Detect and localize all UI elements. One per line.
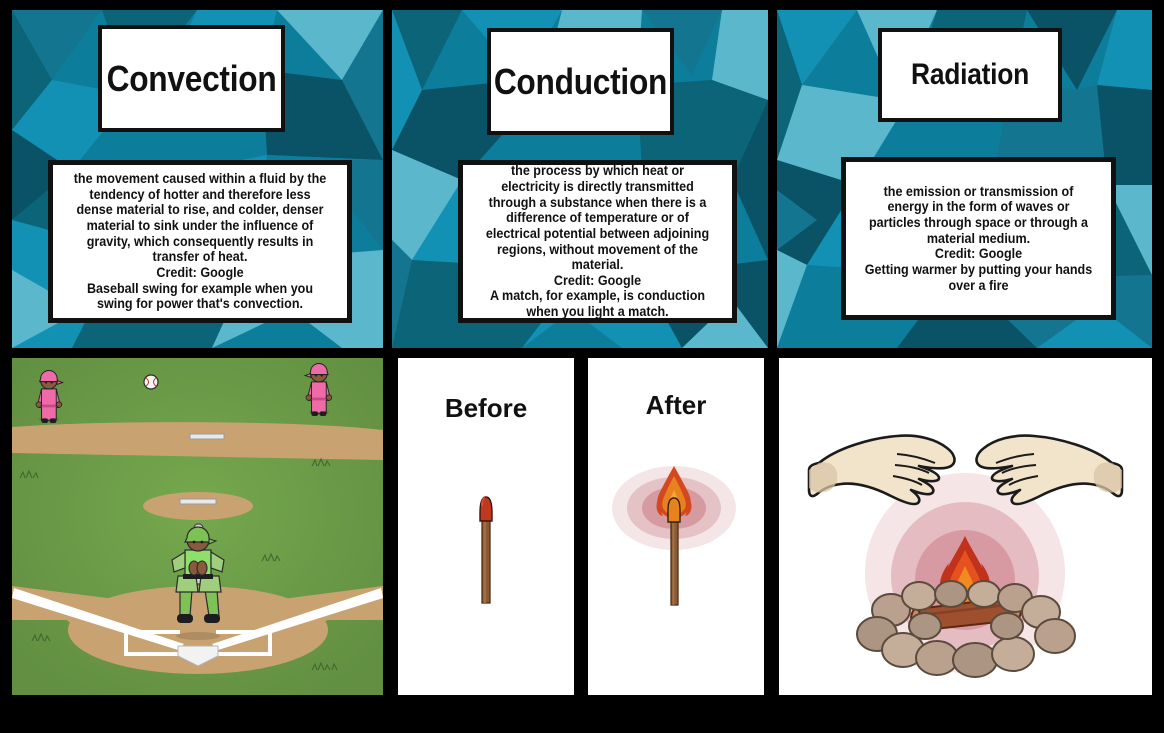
panel-title-convection: Convection (107, 58, 277, 100)
right-hand (977, 436, 1122, 504)
panel-description-conduction: the process by which heat or electricity… (482, 163, 714, 320)
panel-title-radiation: Radiation (911, 58, 1029, 92)
panel-conduction[interactable]: Conduction the process by which heat or … (392, 10, 768, 348)
baseball-field-illustration (12, 358, 383, 695)
panel-match-after[interactable]: After (588, 358, 764, 695)
panel-title-box-conduction: Conduction (487, 28, 674, 135)
baseball (144, 375, 158, 389)
unlit-match-illustration (398, 358, 574, 695)
panel-hands-over-campfire[interactable] (779, 358, 1152, 695)
panel-description-box-conduction: the process by which heat or electricity… (458, 160, 737, 323)
campfire-illustration (779, 358, 1152, 695)
panel-title-box-convection: Convection (98, 25, 285, 132)
panel-match-before[interactable]: Before (398, 358, 574, 695)
panel-title-box-radiation: Radiation (878, 28, 1062, 122)
panel-description-radiation: the emission or transmission of energy i… (865, 184, 1093, 294)
left-hand (809, 436, 954, 504)
panel-description-convection: the movement caused within a fluid by th… (73, 171, 328, 312)
lit-match-illustration (588, 358, 764, 695)
panel-title-conduction: Conduction (494, 61, 667, 103)
panel-description-box-convection: the movement caused within a fluid by th… (48, 160, 352, 323)
panel-baseball-field[interactable] (12, 358, 383, 695)
storyboard: Convection the movement caused within a … (0, 0, 1164, 733)
panel-convection[interactable]: Convection the movement caused within a … (12, 10, 383, 348)
panel-description-box-radiation: the emission or transmission of energy i… (841, 157, 1116, 320)
panel-radiation[interactable]: Radiation the emission or transmission o… (777, 10, 1152, 348)
